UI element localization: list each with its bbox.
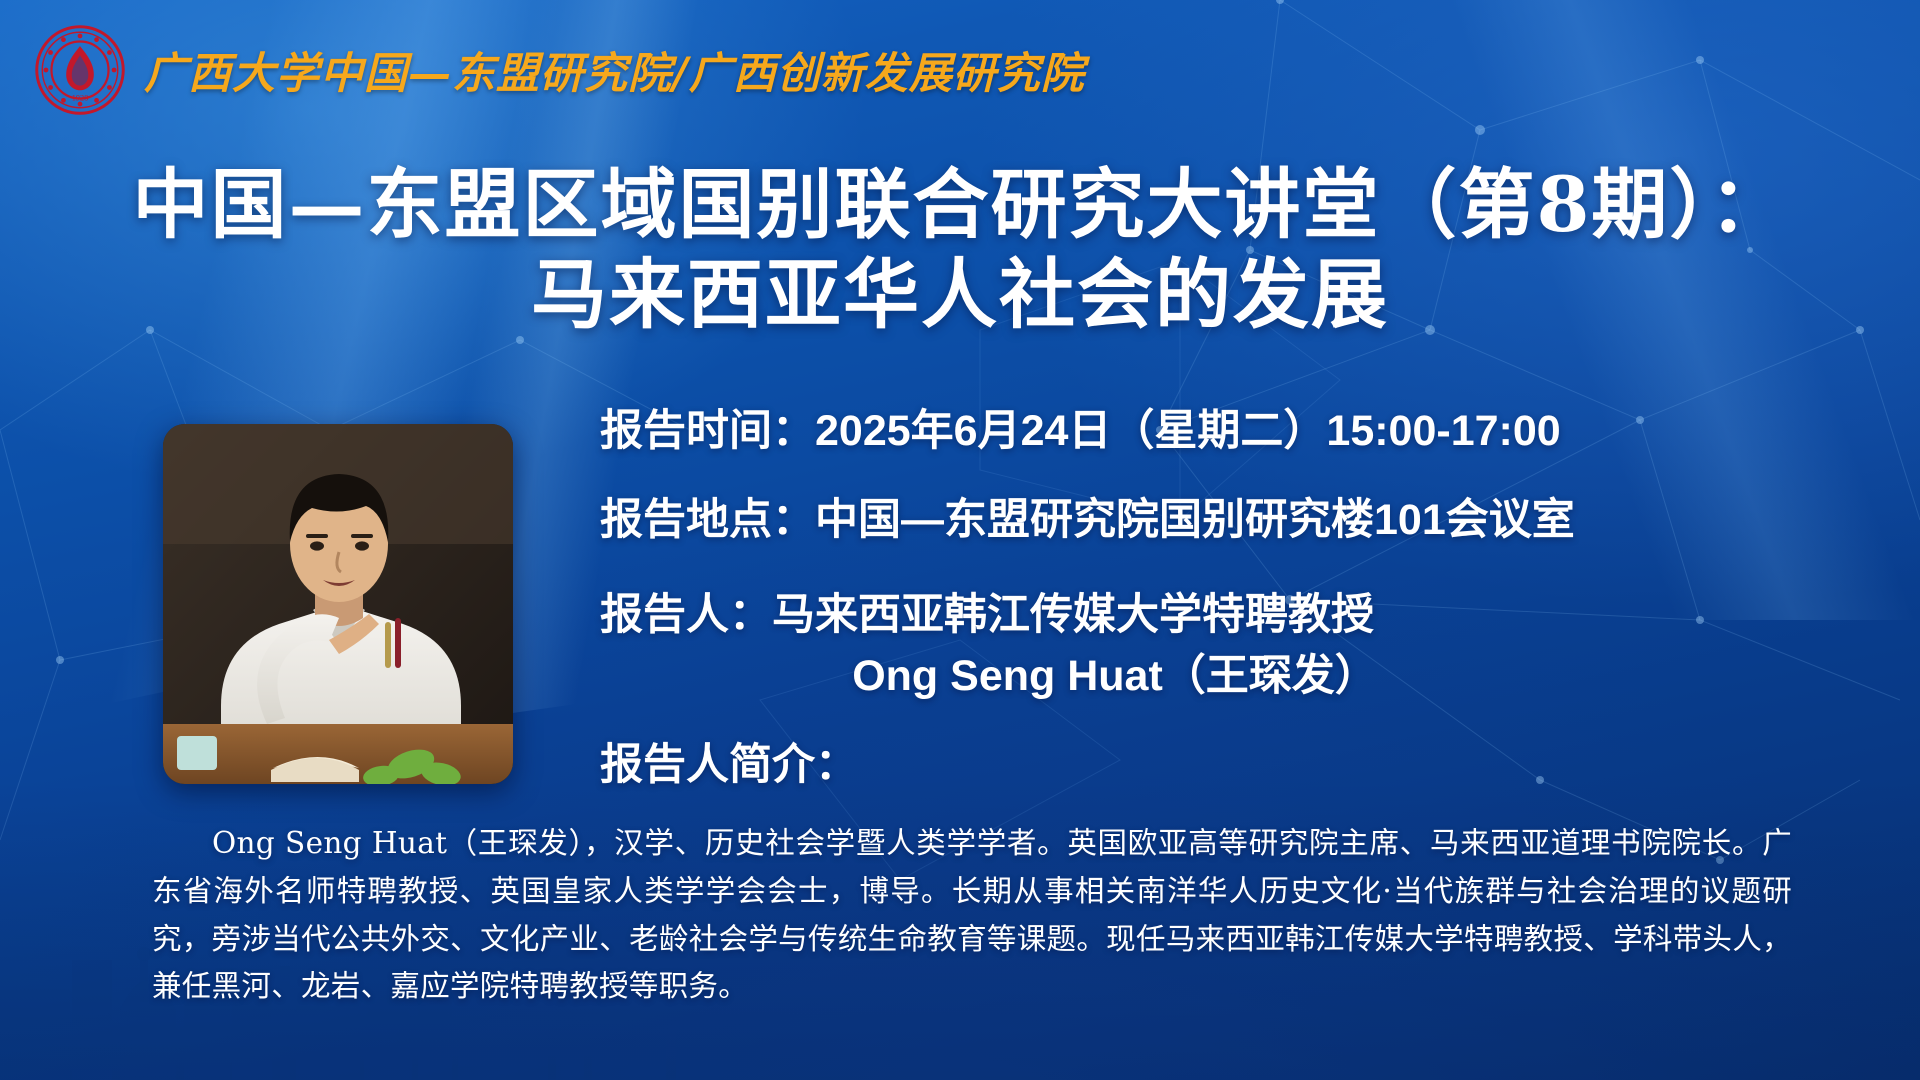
event-info-block: 报告时间：2025年6月24日（星期二）15:00-17:00 报告地点：中国—…: [600, 410, 1800, 787]
speaker-portrait: [163, 424, 513, 784]
title-line-1: 中国—东盟区域国别联合研究大讲堂（第8期）：: [0, 160, 1920, 250]
event-location: 报告地点：中国—东盟研究院国别研究楼101会议室: [600, 499, 1800, 542]
organization-name: 广西大学中国—东盟研究院/广西创新发展研究院: [144, 39, 1085, 101]
speaker-title-line: 报告人：马来西亚韩江传媒大学特聘教授: [600, 594, 1800, 637]
lecture-poster: 1928 广西大学中国—东盟研究院/广西创新发展研究院 中国—东盟区域国别联合研…: [0, 0, 1920, 1080]
guangxi-university-seal-icon: 1928: [34, 24, 126, 116]
speaker-bio-paragraph: Ong Seng Huat（王琛发），汉学、历史社会学暨人类学学者。英国欧亚高等…: [152, 820, 1792, 1011]
event-time: 报告时间：2025年6月24日（星期二）15:00-17:00: [600, 410, 1800, 453]
speaker-name-line: Ong Seng Huat（王琛发）: [600, 655, 1800, 698]
svg-text:1928: 1928: [72, 93, 89, 102]
poster-title: 中国—东盟区域国别联合研究大讲堂（第8期）： 马来西亚华人社会的发展: [0, 160, 1920, 339]
bio-heading: 报告人简介：: [600, 744, 1800, 787]
poster-header: 1928 广西大学中国—东盟研究院/广西创新发展研究院: [0, 0, 1920, 140]
title-line-2: 马来西亚华人社会的发展: [0, 250, 1920, 340]
